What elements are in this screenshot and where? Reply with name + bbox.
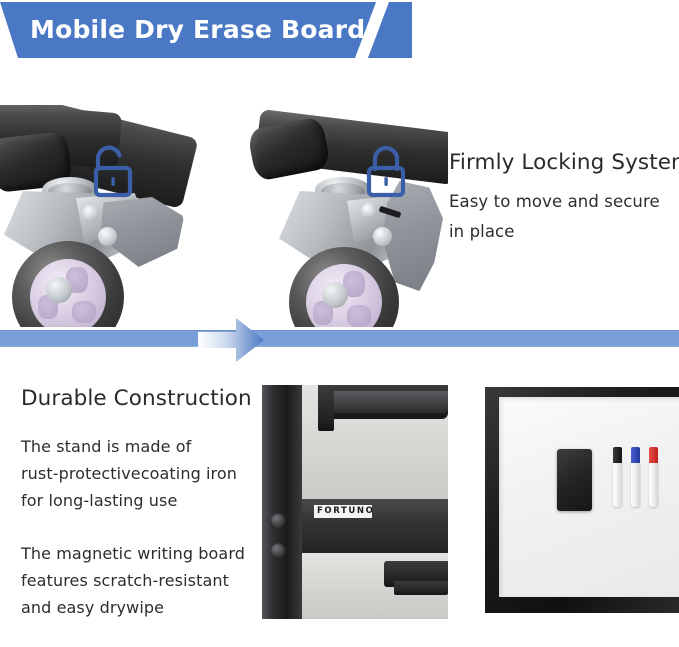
locking-heading: Firmly Locking System [449,150,679,175]
durable-p1-line-2: rust-protectivecoating iron [21,460,266,487]
black-eraser [557,449,592,511]
right-arrow-icon [198,312,264,368]
locking-body-line-1: Easy to move and secure [449,187,679,217]
caster-locked-illustration [243,105,448,327]
diagonal-slash-icon [355,2,389,58]
stand-closeup-photo: FORTUNO [262,385,448,619]
caster-locked-photo [243,105,448,327]
marker-black [613,447,622,507]
durable-construction-section: Durable Construction The stand is made o… [0,355,679,619]
durable-p2-line-1: The magnetic writing board [21,540,266,567]
stand-bolt-upper [270,513,286,529]
stand-bolt-lower [270,543,286,559]
marker-blue [631,447,640,507]
durable-p2-line-2: features scratch-resistant [21,567,266,594]
durable-text-block: Durable Construction The stand is made o… [21,386,266,647]
durable-paragraph-2: The magnetic writing board features scra… [21,540,266,621]
header-banner: Mobile Dry Erase Board [0,2,412,58]
whiteboard-accessories-photo [485,385,679,619]
durable-p2-line-3: and easy drywipe [21,594,266,621]
locking-text-block: Firmly Locking System Easy to move and s… [449,150,679,247]
durable-heading: Durable Construction [21,386,266,411]
locking-body-line-2: in place [449,217,679,247]
caster-unlocked-photo [0,105,212,327]
marker-red [649,447,658,507]
brand-label: FORTUNO [314,505,372,518]
padlock-closed-icon [357,139,415,201]
padlock-open-icon [84,139,142,201]
durable-paragraph-1: The stand is made of rust-protectivecoat… [21,433,266,514]
section-divider [0,330,679,347]
page-title: Mobile Dry Erase Board [30,15,365,44]
durable-p1-line-1: The stand is made of [21,433,266,460]
locking-system-section: Firmly Locking System Easy to move and s… [0,98,679,328]
durable-p1-line-3: for long-lasting use [21,487,266,514]
